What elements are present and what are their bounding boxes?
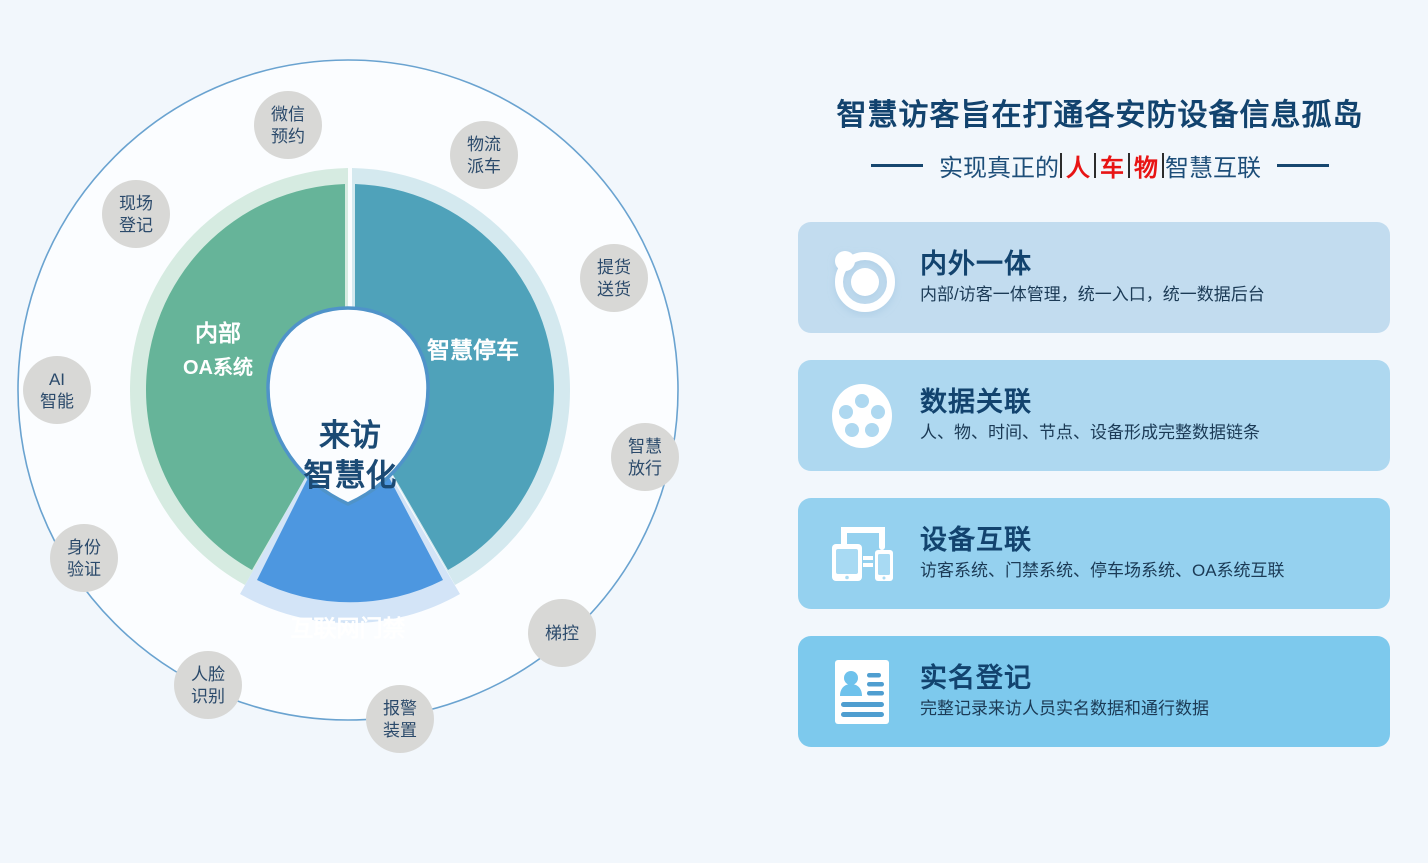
- devices-link-icon: [820, 512, 904, 596]
- subtitle-dash-right: [1277, 164, 1329, 167]
- card-title: 内外一体: [920, 249, 1376, 279]
- bubble-label: 身份: [67, 538, 101, 557]
- bubble-alarm-device[interactable]: 报警 装置: [366, 685, 434, 753]
- bubble-label: 送货: [597, 280, 631, 299]
- subtitle-divider: [1060, 153, 1062, 178]
- card-title: 实名登记: [920, 663, 1376, 693]
- subtitle-divider: [1162, 153, 1164, 178]
- infographic-root: 内部 OA系统 智慧停车 互联网门禁 来访 智慧化 微信 预约: [0, 0, 1428, 863]
- bubble-label: 识别: [191, 687, 225, 706]
- segment-label-oa-line2: OA系统: [183, 355, 253, 379]
- right-panel: 智慧访客旨在打通各安防设备信息孤岛 实现真正的 人 车 物 智慧互联: [790, 0, 1428, 863]
- bubble-label: 人脸: [191, 665, 225, 684]
- feature-card-integration[interactable]: 内外一体 内部/访客一体管理，统一入口，统一数据后台: [798, 222, 1390, 333]
- segment-label-access: 互联网门禁: [291, 615, 406, 641]
- subtitle-prefix: 实现真正的: [939, 148, 1059, 183]
- page-title: 智慧访客旨在打通各安防设备信息孤岛: [790, 90, 1410, 134]
- subtitle-divider: [1094, 153, 1096, 178]
- bubble-label: 提货: [597, 258, 631, 277]
- card-description: 内部/访客一体管理，统一入口，统一数据后台: [920, 284, 1376, 305]
- circular-diagram: 内部 OA系统 智慧停车 互联网门禁 来访 智慧化 微信 预约: [0, 38, 710, 828]
- bubble-label: 预约: [271, 127, 305, 146]
- bubble-label: 智慧: [628, 437, 662, 456]
- card-description: 访客系统、门禁系统、停车场系统、OA系统互联: [920, 560, 1376, 581]
- subtitle-dash-left: [871, 164, 923, 167]
- id-card-icon: [820, 650, 904, 734]
- subtitle-keyword-person: 人: [1063, 148, 1093, 183]
- core-label-line1: 来访: [319, 418, 381, 453]
- card-description: 完整记录来访人员实名数据和通行数据: [920, 698, 1376, 719]
- bubble-face-recognition[interactable]: 人脸 识别: [174, 651, 242, 719]
- subtitle-keyword-goods: 物: [1131, 148, 1161, 183]
- bubble-label: 微信: [271, 105, 305, 124]
- feature-card-real-name[interactable]: 实名登记 完整记录来访人员实名数据和通行数据: [798, 636, 1390, 747]
- bubble-ai-intelligence[interactable]: AI 智能: [23, 356, 91, 424]
- disc-holes-icon: [820, 374, 904, 458]
- bubble-label: 派车: [467, 157, 501, 176]
- bubble-label: 现场: [119, 194, 153, 213]
- segment-label-oa-line1: 内部: [195, 320, 241, 346]
- bubble-label: 登记: [119, 216, 153, 235]
- bubble-label: 报警: [383, 699, 417, 718]
- bubble-identity-verify[interactable]: 身份 验证: [50, 524, 118, 592]
- bubble-elevator-control[interactable]: 梯控: [528, 599, 596, 667]
- subtitle-keyword-vehicle: 车: [1097, 148, 1127, 183]
- feature-card-list: 内外一体 内部/访客一体管理，统一入口，统一数据后台: [798, 222, 1398, 774]
- feature-card-device-link[interactable]: 设备互联 访客系统、门禁系统、停车场系统、OA系统互联: [798, 498, 1390, 609]
- bubble-label: 验证: [67, 560, 101, 579]
- bubble-wechat-booking[interactable]: 微信 预约: [254, 91, 322, 159]
- bubble-logistics-dispatch[interactable]: 物流 派车: [450, 121, 518, 189]
- bubble-label: 放行: [628, 459, 662, 478]
- bubble-label: AI: [49, 370, 65, 389]
- core-label-line2: 智慧化: [304, 458, 397, 493]
- bubble-onsite-registration[interactable]: 现场 登记: [102, 180, 170, 248]
- subtitle-row: 实现真正的 人 车 物 智慧互联: [790, 148, 1410, 183]
- bubble-pickup-delivery[interactable]: 提货 送货: [580, 244, 648, 312]
- feature-card-data-link[interactable]: 数据关联 人、物、时间、节点、设备形成完整数据链条: [798, 360, 1390, 471]
- bubble-label: 梯控: [545, 624, 579, 643]
- bubble-label: 装置: [383, 721, 417, 740]
- card-description: 人、物、时间、节点、设备形成完整数据链条: [920, 422, 1376, 443]
- bubble-label: 智能: [40, 392, 74, 411]
- subtitle-divider: [1128, 153, 1130, 178]
- card-title: 设备互联: [920, 525, 1376, 555]
- card-title: 数据关联: [920, 387, 1376, 417]
- segment-label-parking: 智慧停车: [427, 337, 519, 363]
- bubble-label: 物流: [467, 135, 501, 154]
- subtitle-suffix: 智慧互联: [1165, 148, 1261, 183]
- bubble-smart-release[interactable]: 智慧 放行: [611, 423, 679, 491]
- ring-dot-icon: [820, 236, 904, 320]
